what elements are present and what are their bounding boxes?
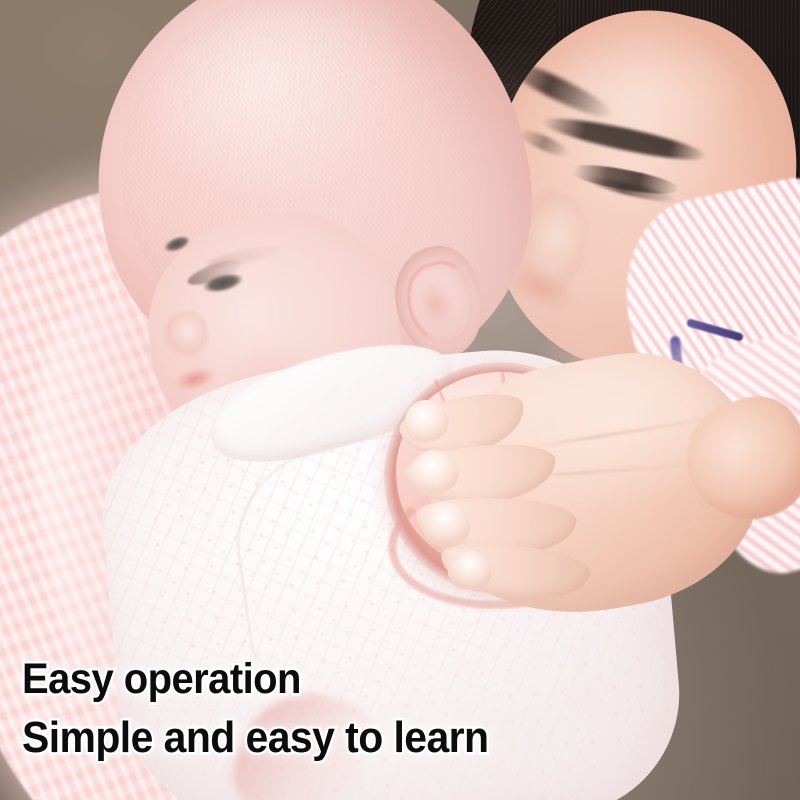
headline-line-1: Easy operation	[22, 658, 301, 701]
product-lifestyle-image: Easy operation Simple and easy to learn	[0, 0, 800, 800]
blue-nipple-product	[498, 524, 798, 800]
headline-line-2: Simple and easy to learn	[22, 716, 488, 760]
